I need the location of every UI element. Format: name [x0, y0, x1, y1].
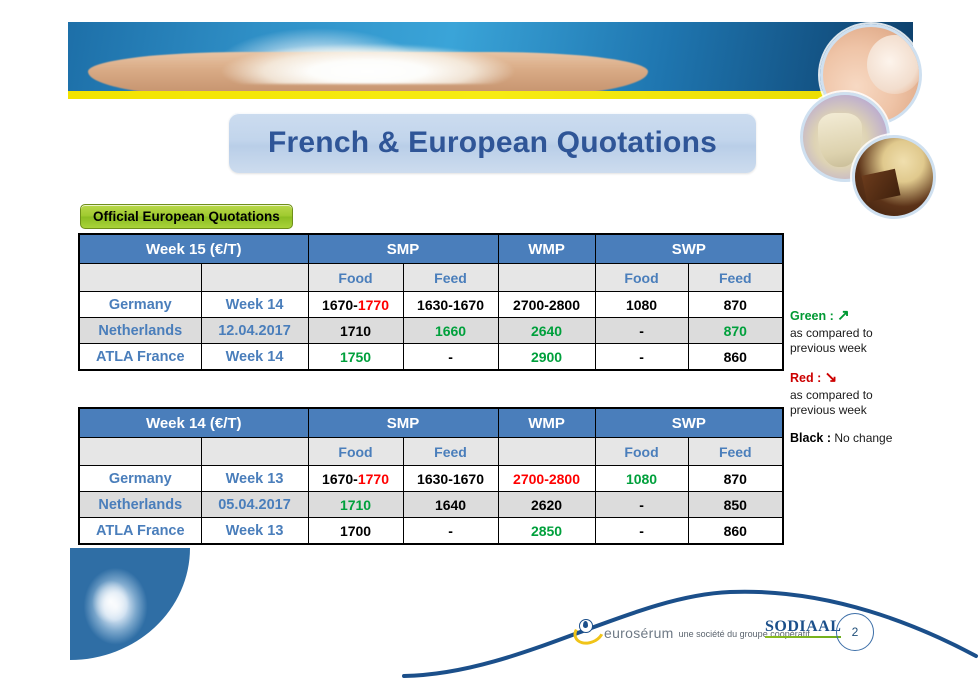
row-week: Week 13	[201, 518, 308, 545]
cell-value-part: 1770	[358, 297, 389, 313]
table-cell: 1670-1770	[308, 292, 403, 318]
table-cell: 870	[688, 466, 783, 492]
table-cell: 1670-1770	[308, 466, 403, 492]
table-subheader-food: Food	[308, 264, 403, 292]
quotations-table-week-15: Week 15 (€/T)SMPWMPSWPFoodFeedFoodFeedGe…	[78, 233, 784, 371]
row-country: Germany	[79, 292, 201, 318]
page-title: French & European Quotations	[268, 126, 717, 160]
cell-value-part: 1640	[435, 497, 466, 513]
legend-green-label: Green :	[790, 309, 834, 323]
cell-value-part: -	[639, 349, 644, 365]
table-cell: -	[595, 344, 688, 371]
table-subheader-feed: Feed	[403, 438, 498, 466]
cell-value-part: 1670-	[322, 297, 358, 313]
legend-red-line2: previous week	[790, 403, 950, 418]
color-legend: Green : ↗ as compared to previous week R…	[790, 307, 950, 459]
table-row: GermanyWeek 141670-17701630-16702700-280…	[79, 292, 783, 318]
table-cell: -	[595, 518, 688, 545]
quotations-table-week-14: Week 14 (€/T)SMPWMPSWPFoodFeedFoodFeedGe…	[78, 407, 784, 545]
cell-value-part: 1700	[340, 523, 371, 539]
row-country: ATLA France	[79, 344, 201, 371]
cell-value-part: 2850	[531, 523, 562, 539]
page-number-badge: 2	[836, 613, 874, 651]
header-banner-image	[68, 22, 913, 94]
cell-value-part: 2620	[531, 497, 562, 513]
table-corner-header: Week 15 (€/T)	[79, 234, 308, 264]
table-cell: 1700	[308, 518, 403, 545]
euroserum-swirl-icon	[573, 618, 599, 640]
table-subheader-food: Food	[595, 438, 688, 466]
table-row: GermanyWeek 131670-17701630-16702700-280…	[79, 466, 783, 492]
cell-value-part: 1770	[358, 471, 389, 487]
table-cell: 870	[688, 292, 783, 318]
cell-value-part: 1630-1670	[417, 297, 484, 313]
table-cell: 1080	[595, 466, 688, 492]
table-subheader-blank-1	[201, 438, 308, 466]
table-subheader-row: FoodFeedFoodFeed	[79, 438, 783, 466]
cell-value-part: 1660	[435, 323, 466, 339]
row-country: Netherlands	[79, 318, 201, 344]
cell-value-part: 1080	[626, 297, 657, 313]
table-cell: 1630-1670	[403, 466, 498, 492]
cell-value-part: -	[448, 523, 453, 539]
cell-value-part: 2700-2800	[513, 297, 580, 313]
table-corner-header: Week 14 (€/T)	[79, 408, 308, 438]
table-subheader-blank-0	[79, 438, 201, 466]
row-week: 05.04.2017	[201, 492, 308, 518]
cell-value-part: 870	[724, 297, 747, 313]
cell-value-part: 1670-	[322, 471, 358, 487]
cell-value-part: -	[639, 497, 644, 513]
cell-value-part: 1630-1670	[417, 471, 484, 487]
table-cell: 1080	[595, 292, 688, 318]
milk-powder-photo	[188, 26, 548, 84]
row-country: Germany	[79, 466, 201, 492]
legend-black-text: No change	[834, 431, 892, 445]
blue-decorative-shape	[70, 548, 190, 660]
arrow-down-icon: ↘	[825, 369, 838, 386]
page-title-plaque: French & European Quotations	[229, 113, 756, 173]
legend-black-label: Black :	[790, 431, 831, 445]
cell-value-part: 1710	[340, 323, 371, 339]
table-cell: -	[403, 518, 498, 545]
cell-value-part: 860	[724, 349, 747, 365]
table-cell: 850	[688, 492, 783, 518]
table-cell: 2620	[498, 492, 595, 518]
cell-value-part: -	[639, 323, 644, 339]
cell-value-part: -	[639, 523, 644, 539]
table-row: Netherlands05.04.2017171016402620-850	[79, 492, 783, 518]
table-subheader-feed: Feed	[688, 264, 783, 292]
table-group-header-row: Week 14 (€/T)SMPWMPSWP	[79, 408, 783, 438]
sodiaal-logo: SODIAAL	[765, 619, 841, 638]
table-group-header-smp: SMP	[308, 408, 498, 438]
table-subheader-blank-0	[79, 264, 201, 292]
cell-value-part: 1710	[340, 497, 371, 513]
legend-green: Green : ↗ as compared to previous week	[790, 307, 950, 356]
table-cell: 1660	[403, 318, 498, 344]
table-subheader-blank-1	[201, 264, 308, 292]
section-badge-label: Official European Quotations	[93, 209, 280, 224]
cell-value-part: 870	[724, 471, 747, 487]
table-cell: 1630-1670	[403, 292, 498, 318]
table-cell: 2850	[498, 518, 595, 545]
table-subheader-food: Food	[595, 264, 688, 292]
legend-red: Red : ↘ as compared to previous week	[790, 369, 950, 418]
table-cell: 2700-2800	[498, 292, 595, 318]
legend-red-line1: as compared to	[790, 388, 950, 403]
table-subheader-blank-4	[498, 264, 595, 292]
table-subheader-food: Food	[308, 438, 403, 466]
table-cell: 860	[688, 344, 783, 371]
table-cell: 870	[688, 318, 783, 344]
euroserum-wordmark: eurosérum	[604, 626, 674, 640]
sodiaal-underline	[765, 636, 841, 638]
table-subheader-blank-4	[498, 438, 595, 466]
table-cell: 860	[688, 518, 783, 545]
row-week: Week 13	[201, 466, 308, 492]
sodiaal-wordmark: SODIAAL	[765, 619, 841, 635]
table-row: Netherlands12.04.2017171016602640-870	[79, 318, 783, 344]
table-cell: 1710	[308, 318, 403, 344]
cell-value-part: 2640	[531, 323, 562, 339]
yellow-accent-bar	[68, 91, 913, 99]
row-country: ATLA France	[79, 518, 201, 545]
table-cell: -	[595, 492, 688, 518]
row-week: Week 14	[201, 292, 308, 318]
cell-value-part: -	[448, 349, 453, 365]
table-subheader-feed: Feed	[688, 438, 783, 466]
legend-red-label: Red :	[790, 371, 821, 385]
legend-green-line2: previous week	[790, 341, 950, 356]
cell-value-part: 860	[724, 523, 747, 539]
table-cell: -	[595, 318, 688, 344]
table-cell: 1750	[308, 344, 403, 371]
table-cell: 1710	[308, 492, 403, 518]
chocolate-photo-circle	[852, 135, 936, 219]
table-cell: 2640	[498, 318, 595, 344]
cell-value-part: 2900	[531, 349, 562, 365]
table-cell: 2900	[498, 344, 595, 371]
table-group-header-swp: SWP	[595, 408, 783, 438]
table-cell: 2700-2800	[498, 466, 595, 492]
table-group-header-wmp: WMP	[498, 408, 595, 438]
legend-black: Black : No change	[790, 431, 950, 447]
row-country: Netherlands	[79, 492, 201, 518]
table-subheader-feed: Feed	[403, 264, 498, 292]
section-badge: Official European Quotations	[80, 204, 293, 229]
table-group-header-swp: SWP	[595, 234, 783, 264]
row-week: 12.04.2017	[201, 318, 308, 344]
legend-green-line1: as compared to	[790, 326, 950, 341]
table-group-header-smp: SMP	[308, 234, 498, 264]
table-row: ATLA FranceWeek 141750-2900-860	[79, 344, 783, 371]
page-number: 2	[852, 625, 859, 639]
arrow-up-icon: ↗	[837, 307, 850, 324]
cell-value-part: 2700-2800	[513, 471, 580, 487]
table-cell: 1640	[403, 492, 498, 518]
table-cell: -	[403, 344, 498, 371]
cell-value-part: 1080	[626, 471, 657, 487]
slide-canvas: French & European Quotations Official Eu…	[0, 0, 980, 692]
row-week: Week 14	[201, 344, 308, 371]
cell-value-part: 850	[724, 497, 747, 513]
cell-value-part: 870	[724, 323, 747, 339]
table-group-header-wmp: WMP	[498, 234, 595, 264]
table-row: ATLA FranceWeek 131700-2850-860	[79, 518, 783, 545]
cell-value-part: 1750	[340, 349, 371, 365]
table-subheader-row: FoodFeedFoodFeed	[79, 264, 783, 292]
table-group-header-row: Week 15 (€/T)SMPWMPSWP	[79, 234, 783, 264]
